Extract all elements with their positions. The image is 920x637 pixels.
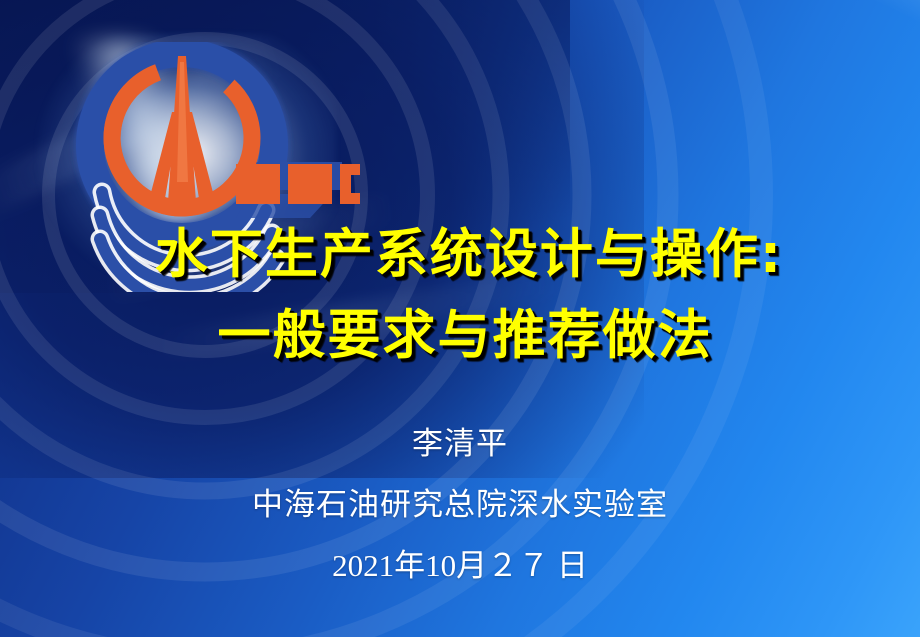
subtitle-block: 李清平 中海石油研究总院深水实验室 2021年10月２７ 日 bbox=[0, 428, 920, 581]
title-line-2: 一般要求与推荐做法 bbox=[0, 309, 920, 362]
organization-name: 中海石油研究总院深水实验室 bbox=[0, 489, 920, 520]
presentation-date: 2021年10月２７ 日 bbox=[0, 550, 920, 581]
title-line-1: 水下生产系统设计与操作: bbox=[0, 228, 920, 281]
presentation-slide: 水下生产系统设计与操作: 一般要求与推荐做法 李清平 中海石油研究总院深水实验室… bbox=[0, 0, 920, 637]
title-block: 水下生产系统设计与操作: 一般要求与推荐做法 bbox=[0, 228, 920, 362]
presenter-name: 李清平 bbox=[0, 428, 920, 459]
